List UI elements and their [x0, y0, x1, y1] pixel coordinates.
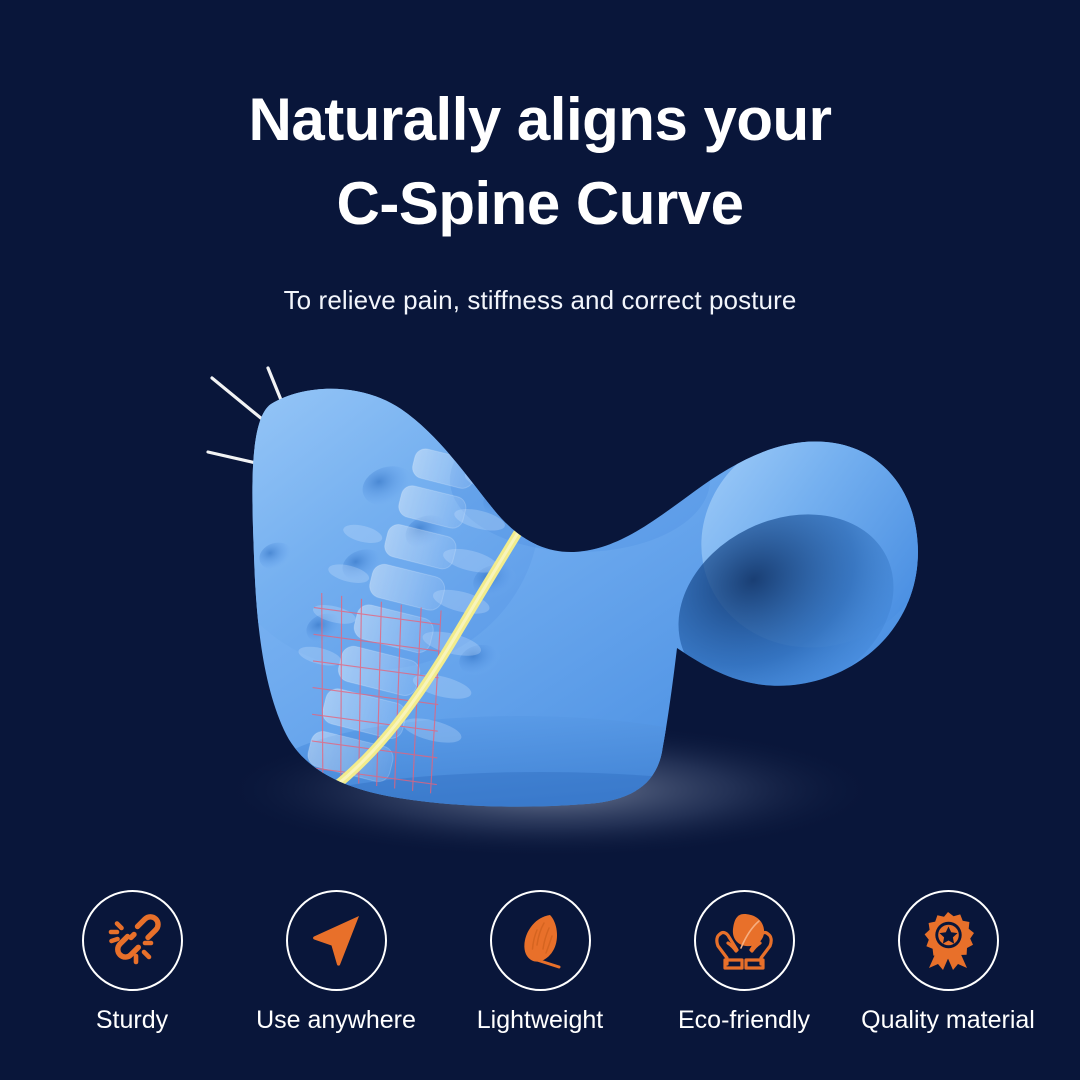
- paper-plane-icon: [306, 911, 366, 971]
- subtitle: To relieve pain, stiffness and correct p…: [0, 283, 1080, 317]
- feature-label: Sturdy: [96, 1005, 168, 1035]
- headline-line-1: Naturally aligns your: [0, 78, 1080, 162]
- headline: Naturally aligns your C-Spine Curve: [0, 78, 1080, 246]
- product-marketing-card: Naturally aligns your C-Spine Curve To r…: [0, 0, 1080, 1080]
- feature-icon-circle: [490, 890, 591, 991]
- feature-item-use-anywhere[interactable]: Use anywhere: [238, 890, 434, 1035]
- feature-item-lightweight[interactable]: Lightweight: [442, 890, 638, 1035]
- feature-item-quality-material[interactable]: Quality material: [850, 890, 1046, 1035]
- feature-label: Quality material: [861, 1005, 1035, 1035]
- feature-label: Use anywhere: [256, 1005, 416, 1035]
- feature-icon-circle: [82, 890, 183, 991]
- feature-label: Eco-friendly: [678, 1005, 810, 1035]
- hands-holding-leaf-icon: [711, 910, 777, 972]
- feather-icon: [509, 910, 571, 972]
- product-hero-image: [150, 360, 940, 870]
- feature-item-sturdy[interactable]: Sturdy: [34, 890, 230, 1035]
- feature-strip: Sturdy Use anywhere: [0, 890, 1080, 1050]
- feature-icon-circle: [286, 890, 387, 991]
- headline-line-2: C-Spine Curve: [0, 162, 1080, 246]
- feature-item-eco-friendly[interactable]: Eco-friendly: [646, 890, 842, 1035]
- feature-label: Lightweight: [477, 1005, 603, 1035]
- feature-icon-circle: [694, 890, 795, 991]
- feature-icon-circle: [898, 890, 999, 991]
- broken-chain-link-icon: [101, 910, 163, 972]
- award-rosette-icon: [917, 910, 979, 972]
